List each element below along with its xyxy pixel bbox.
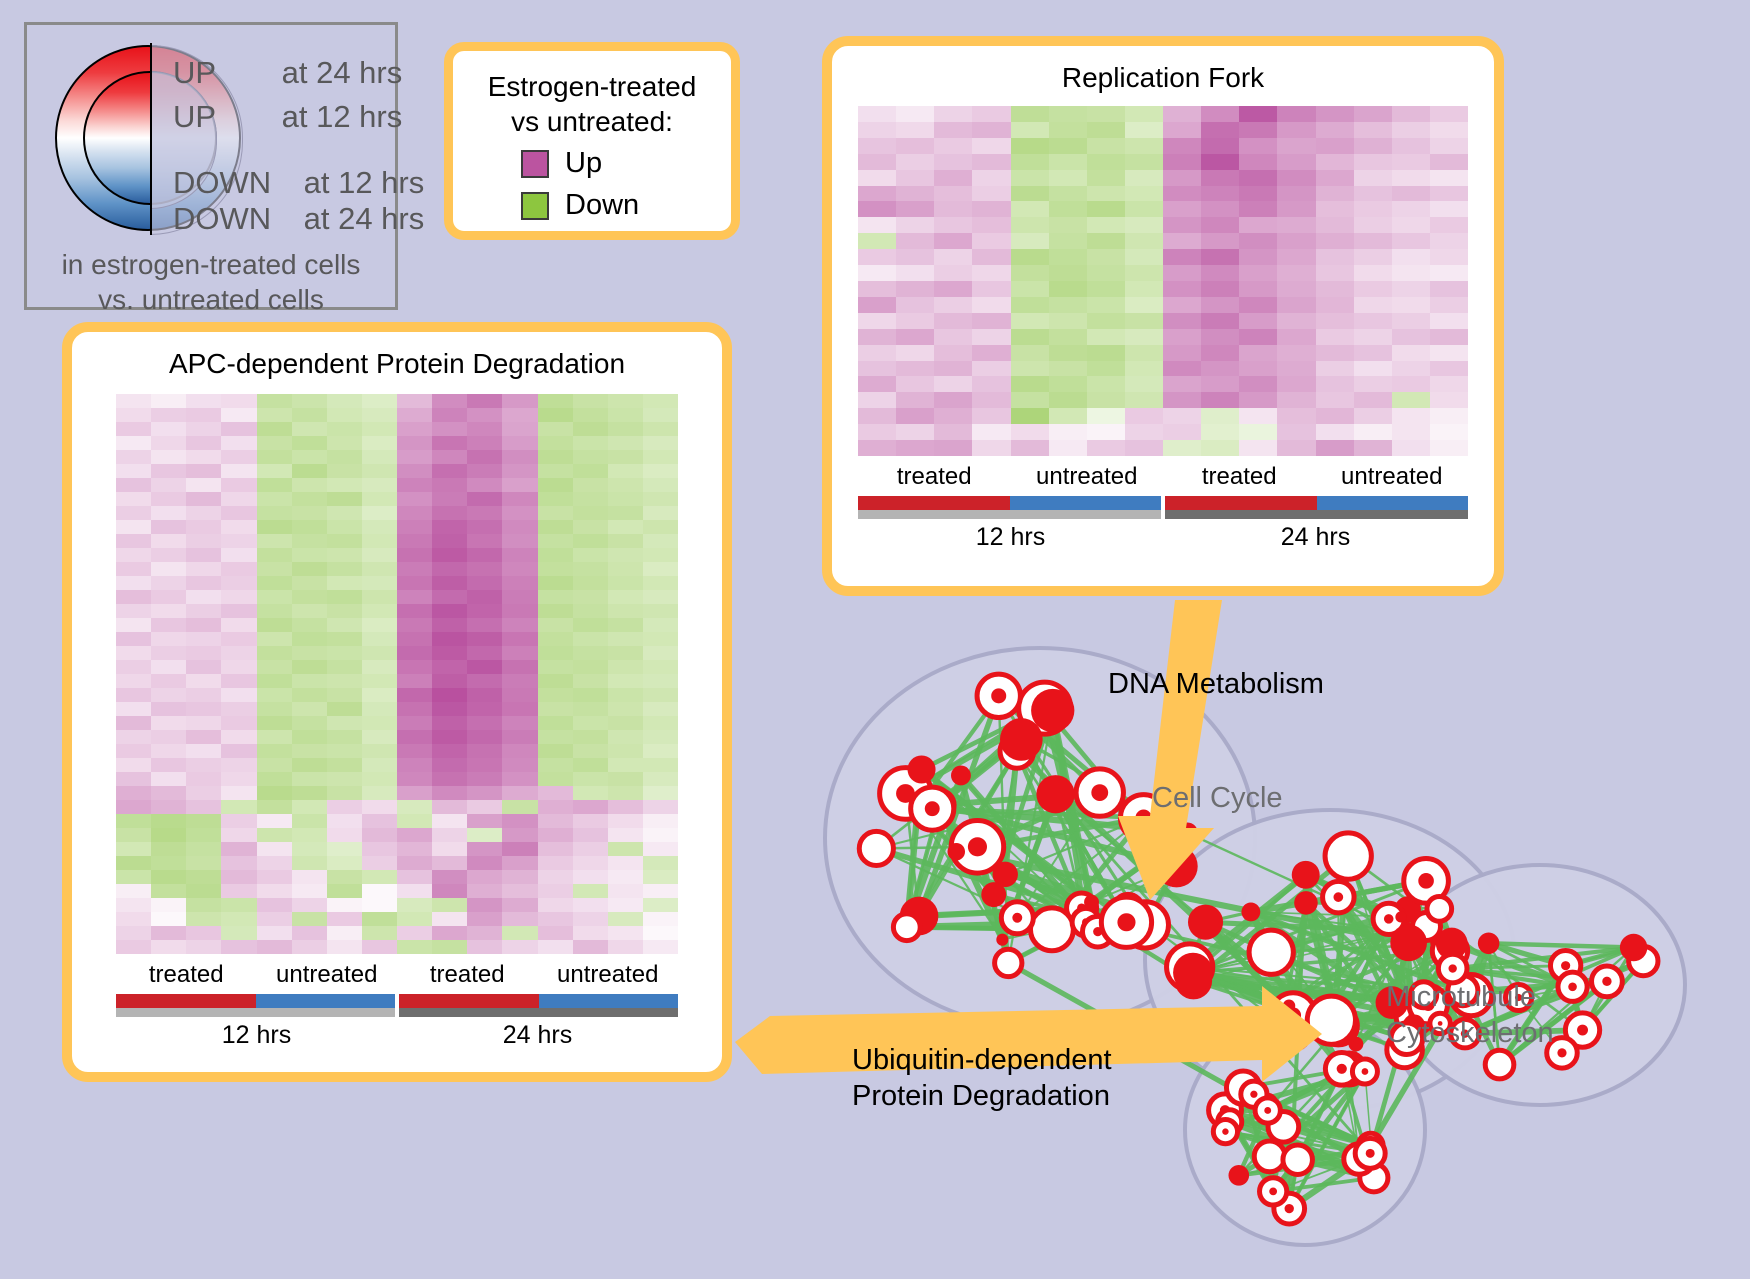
heatmap-cell: [608, 772, 643, 786]
network-edge: [932, 708, 1044, 809]
heatmap-cell: [1239, 106, 1277, 122]
heatmap-cell: [1392, 361, 1430, 377]
heatmap-cell: [1239, 281, 1277, 297]
heatmap-cell: [186, 912, 221, 926]
heatmap-cell: [1011, 408, 1049, 424]
heatmap-cell: [116, 534, 151, 548]
network-node-core: [903, 923, 911, 931]
heatmap-cell: [538, 646, 573, 660]
network-edge: [1206, 922, 1272, 952]
network-edge: [1225, 1110, 1230, 1122]
network-node-core: [1366, 1149, 1375, 1158]
heatmap-cell: [858, 361, 896, 377]
network-edge: [1389, 919, 1450, 951]
heatmap-cell: [643, 464, 678, 478]
heatmap-cell: [1011, 122, 1049, 138]
heatmap-cell: [186, 646, 221, 660]
network-node-core: [1448, 964, 1456, 972]
network-node: [1260, 1178, 1287, 1205]
heatmap-cell: [502, 842, 537, 856]
heatmap-cell: [538, 604, 573, 618]
heatmap-cell: [896, 281, 934, 297]
network-node-core: [991, 688, 1006, 703]
network-edge: [876, 848, 1052, 929]
heatmap-cell: [972, 265, 1010, 281]
heatmap-cell: [397, 800, 432, 814]
network-edge: [918, 807, 994, 895]
heatmap-cell: [858, 233, 896, 249]
heatmap-cell: [432, 660, 467, 674]
heatmap-cell: [1430, 313, 1468, 329]
network-node: [1036, 775, 1074, 813]
heatmap-cell: [1163, 154, 1201, 170]
heatmap-cell: [1430, 329, 1468, 345]
network-edge: [1225, 1071, 1365, 1110]
heatmap-cell: [1277, 154, 1315, 170]
heatmap-cell: [1125, 424, 1163, 440]
heatmap-cell: [1201, 201, 1239, 217]
network-edge: [1243, 1088, 1254, 1095]
heatmap-cell: [643, 758, 678, 772]
heatmap-cell: [858, 424, 896, 440]
heatmap-cell: [502, 814, 537, 828]
heatmap-cell: [643, 702, 678, 716]
heatmap-cell: [573, 646, 608, 660]
heatmap-cell: [221, 828, 256, 842]
heatmap-cell: [1125, 186, 1163, 202]
heatmap-cell: [362, 702, 397, 716]
heatmap-cell: [397, 548, 432, 562]
heatmap-cell: [362, 786, 397, 800]
network-node-core: [1370, 1174, 1378, 1182]
heatmap-cell: [327, 688, 362, 702]
heatmap-cell: [257, 800, 292, 814]
network-node: [912, 801, 924, 813]
heatmap-cell: [858, 392, 896, 408]
heatmap-cell: [1125, 281, 1163, 297]
network-node: [1629, 946, 1658, 975]
heatmap-cell: [186, 478, 221, 492]
network-node-core: [1577, 1025, 1588, 1036]
network-edge: [1489, 943, 1634, 947]
heatmap-cell: [1201, 281, 1239, 297]
heatmap-cell: [151, 604, 186, 618]
group-label: treated: [1163, 462, 1316, 492]
network-label-ubiquitin-degradation: Ubiquitin-dependent Protein Degradation: [852, 1042, 1112, 1114]
heatmap-cell: [1087, 233, 1125, 249]
network-edge: [1439, 909, 1451, 944]
network-edge: [1273, 1178, 1374, 1192]
heatmap-cell: [186, 492, 221, 506]
heatmap-cell: [292, 618, 327, 632]
network-edge: [1284, 903, 1306, 1006]
heatmap-cell: [573, 940, 608, 954]
heatmap-cell: [432, 450, 467, 464]
treatment-bar-segment: [858, 496, 1010, 510]
heatmap-cell: [1354, 297, 1392, 313]
heatmap-cell: [1316, 106, 1354, 122]
network-edge: [1583, 948, 1634, 1031]
network-node: [1395, 896, 1421, 922]
updown-title-line2: vs untreated:: [453, 104, 731, 139]
heatmap-cell: [397, 464, 432, 478]
heatmap-cell: [972, 122, 1010, 138]
network-edge: [1206, 922, 1402, 931]
heatmap-cell: [432, 632, 467, 646]
network-edge: [1052, 909, 1128, 929]
heatmap-cell: [257, 786, 292, 800]
heatmap-cell: [1277, 281, 1315, 297]
network-edge: [1225, 1110, 1371, 1145]
network-edge: [922, 770, 1098, 932]
heatmap-cell: [573, 716, 608, 730]
heatmap-cell: [1201, 392, 1239, 408]
heatmap-cell: [972, 201, 1010, 217]
treatment-bar-apc: [116, 994, 678, 1008]
heatmap-cell: [573, 772, 608, 786]
heatmap-cell: [362, 674, 397, 688]
network-edge: [1193, 875, 1306, 973]
heatmap-cell: [972, 249, 1010, 265]
heatmap-cell: [502, 520, 537, 534]
heatmap-cell: [643, 800, 678, 814]
heatmap-cell: [1011, 170, 1049, 186]
heatmap-cell: [573, 408, 608, 422]
heatmap-cell: [362, 828, 397, 842]
heatmap-cell: [432, 870, 467, 884]
heatmap-cell: [467, 492, 502, 506]
heatmap-cell: [257, 576, 292, 590]
heatmap-cell: [1049, 154, 1087, 170]
heatmap-cell: [1201, 345, 1239, 361]
heatmap-cell: [116, 394, 151, 408]
heatmap-cell: [643, 506, 678, 520]
network-edge: [932, 809, 1143, 818]
treatment-bar-segment: [539, 994, 679, 1008]
treatment-bar-segment: [116, 994, 256, 1008]
heatmap-cell: [327, 940, 362, 954]
heatmap-cell: [972, 376, 1010, 392]
heatmap-cell: [362, 604, 397, 618]
heatmap-cell: [221, 534, 256, 548]
heatmap-cell: [1392, 408, 1430, 424]
heatmap-cell: [116, 422, 151, 436]
heatmap-cell: [362, 394, 397, 408]
heatmap-cell: [573, 884, 608, 898]
network-edge: [1338, 881, 1426, 897]
heatmap-cell: [538, 828, 573, 842]
heatmap-cell: [1239, 217, 1277, 233]
network-edge: [1342, 1069, 1374, 1178]
heatmap-cell: [292, 450, 327, 464]
network-edge: [1206, 922, 1285, 1006]
heatmap-cell: [257, 884, 292, 898]
network-edge: [1562, 961, 1643, 1053]
heatmap-cell: [221, 926, 256, 940]
network-node: [947, 843, 965, 861]
heatmap-cell: [432, 842, 467, 856]
heatmap-cell: [432, 744, 467, 758]
heatmap-cell: [608, 618, 643, 632]
network-edge: [999, 696, 1146, 925]
heatmap-cell: [116, 870, 151, 884]
heatmap-cell: [362, 562, 397, 576]
network-node: [1592, 966, 1623, 997]
heatmap-cell: [608, 562, 643, 576]
heatmap-cell: [432, 562, 467, 576]
heatmap-cell: [643, 534, 678, 548]
network-edge: [1193, 973, 1414, 1026]
heatmap-cell: [432, 814, 467, 828]
network-edge: [1268, 1069, 1349, 1111]
heatmap-cell: [397, 422, 432, 436]
key-time-down-24: at 24 hrs: [304, 203, 425, 234]
heatmap-cell: [467, 548, 502, 562]
network-edge: [1254, 1094, 1371, 1145]
network-edge: [1289, 1006, 1342, 1069]
heatmap-cell: [397, 576, 432, 590]
network-node-core: [1012, 913, 1022, 923]
treatment-bar-segment: [256, 994, 396, 1008]
network-edge: [1225, 1132, 1359, 1159]
heatmap-cell: [186, 702, 221, 716]
heatmap-cell: [608, 590, 643, 604]
heatmap-cell: [1201, 106, 1239, 122]
network-edge: [1193, 973, 1407, 1039]
network-node-core: [1082, 918, 1090, 926]
heatmap-cell: [538, 520, 573, 534]
heatmap-cell: [397, 674, 432, 688]
network-edge: [922, 708, 1045, 769]
heatmap-cell: [327, 548, 362, 562]
key-label-up-24: UP: [173, 57, 273, 88]
heatmap-cell: [934, 122, 972, 138]
heatmap-cell: [186, 562, 221, 576]
heatmap-cell: [1011, 249, 1049, 265]
network-node-core: [1340, 848, 1356, 864]
network-edge: [1193, 973, 1407, 1039]
heatmap-cell: [257, 940, 292, 954]
heatmap-cell: [538, 408, 573, 422]
heatmap-cell: [1049, 201, 1087, 217]
heatmap-cell: [608, 520, 643, 534]
heatmap-cell: [257, 464, 292, 478]
heatmap-cell: [151, 492, 186, 506]
heatmap-cell: [221, 814, 256, 828]
network-node: [1213, 1120, 1237, 1144]
heatmap-cell: [151, 478, 186, 492]
network-edge: [907, 927, 1052, 929]
network-edge: [1021, 739, 1126, 922]
heatmap-cell: [538, 450, 573, 464]
heatmap-cell: [1163, 440, 1201, 456]
heatmap-cell: [327, 828, 362, 842]
network-node: [1076, 769, 1123, 816]
heatmap-cell: [1392, 201, 1430, 217]
heatmap-cell: [151, 800, 186, 814]
heatmap-cell: [116, 716, 151, 730]
heatmap-cell: [608, 646, 643, 660]
network-edge: [940, 805, 957, 852]
cluster-halo-0: [825, 648, 1255, 1028]
heatmap-cell: [896, 154, 934, 170]
network-edge: [1289, 875, 1306, 1209]
heatmap-cell: [502, 912, 537, 926]
heatmap-cell: [151, 422, 186, 436]
heatmap-cell: [1201, 122, 1239, 138]
heatmap-cell: [1087, 201, 1125, 217]
heatmap-cell: [502, 898, 537, 912]
heatmap-cell: [972, 138, 1010, 154]
heatmap-cell: [972, 170, 1010, 186]
heatmap-cell: [116, 898, 151, 912]
heatmap-cell: [1011, 440, 1049, 456]
heatmap-cell: [1354, 106, 1392, 122]
heatmap-cell: [327, 772, 362, 786]
network-edge: [1268, 1071, 1365, 1110]
heatmap-cell: [1163, 297, 1201, 313]
heatmap-cell: [1239, 408, 1277, 424]
key-time-down-12: at 12 hrs: [304, 167, 425, 198]
heatmap-cell: [221, 702, 256, 716]
heatmap-cell: [257, 702, 292, 716]
heatmap-cell: [186, 772, 221, 786]
network-edge: [1251, 897, 1338, 912]
network-edge: [1273, 1071, 1365, 1191]
heatmap-cell: [1011, 154, 1049, 170]
network-node-core: [1367, 1142, 1374, 1149]
heatmap-cell: [397, 590, 432, 604]
heatmap-cell: [292, 926, 327, 940]
heatmap-cell: [502, 660, 537, 674]
heatmap-cell: [292, 506, 327, 520]
network-edge: [876, 848, 1126, 922]
network-edge: [1566, 966, 1583, 1030]
heatmap-cell: [327, 716, 362, 730]
heatmap-cell: [362, 814, 397, 828]
heatmap-cell: [608, 716, 643, 730]
heatmap-cell: [221, 884, 256, 898]
heatmap-cell: [292, 912, 327, 926]
heatmap-cell: [1316, 138, 1354, 154]
network-edge: [1005, 751, 1017, 874]
heatmap-cell: [221, 744, 256, 758]
network-edge: [1206, 922, 1356, 1044]
network-edge: [1126, 909, 1128, 922]
heatmap-cell: [292, 772, 327, 786]
network-edge: [1566, 948, 1634, 966]
heatmap-cell: [221, 856, 256, 870]
heatmap-cell: [186, 534, 221, 548]
heatmap-cell: [1011, 329, 1049, 345]
network-node-core: [1333, 1018, 1342, 1027]
network-node: [1167, 944, 1213, 990]
heatmap-cell: [934, 376, 972, 392]
network-edge: [1190, 967, 1332, 1020]
network-edge: [1306, 903, 1439, 909]
network-edge: [918, 807, 994, 895]
heatmap-cell: [502, 548, 537, 562]
heatmap-cell: [538, 618, 573, 632]
heatmap-cell: [151, 856, 186, 870]
heatmap-cell: [292, 716, 327, 730]
heatmap-cell: [1125, 313, 1163, 329]
heatmap-cell: [896, 361, 934, 377]
heatmap-cell: [432, 884, 467, 898]
heatmap-cell: [292, 744, 327, 758]
heatmap-cell: [538, 898, 573, 912]
heatmap-cell: [972, 154, 1010, 170]
timepoint-label: 24 hrs: [1163, 523, 1468, 552]
heatmap-cell: [221, 506, 256, 520]
heatmap-cell: [1049, 440, 1087, 456]
network-edge: [1389, 919, 1427, 927]
panel-apc-degradation: APC-dependent Protein Degradation treate…: [62, 322, 732, 1082]
heatmap-cell: [186, 828, 221, 842]
network-node: [1348, 1037, 1363, 1052]
network-node: [900, 897, 939, 936]
heatmap-cell: [1049, 361, 1087, 377]
heatmap-cell: [1201, 138, 1239, 154]
heatmap-cell: [432, 506, 467, 520]
heatmap-cell: [643, 870, 678, 884]
heatmap-cell: [538, 912, 573, 926]
heatmap-cell: [1087, 281, 1125, 297]
heatmap-cell: [1354, 138, 1392, 154]
heatmap-cell: [1430, 440, 1468, 456]
heatmap-cell: [432, 758, 467, 772]
heatmap-cell: [972, 233, 1010, 249]
network-edge: [919, 751, 1017, 916]
network-node: [1395, 911, 1406, 922]
heatmap-cell: [467, 674, 502, 688]
heatmap-cell: [896, 392, 934, 408]
heatmap-cell: [151, 758, 186, 772]
heatmap-cell: [1392, 154, 1430, 170]
network-node: [1274, 996, 1294, 1016]
heatmap-cell: [397, 772, 432, 786]
heatmap-cell: [186, 674, 221, 688]
heatmap-cell: [186, 884, 221, 898]
heatmap-cell: [467, 450, 502, 464]
network-edge: [956, 852, 1098, 932]
heatmap-cell: [432, 646, 467, 660]
heatmap-cell: [1277, 217, 1315, 233]
heatmap-cell: [1049, 217, 1087, 233]
network-node: [1292, 861, 1320, 889]
heatmap-cell: [538, 464, 573, 478]
heatmap-cell: [608, 632, 643, 646]
network-node: [1283, 1145, 1313, 1175]
heatmap-cell: [1430, 408, 1468, 424]
heatmap-cell: [1125, 329, 1163, 345]
heatmap-cell: [397, 898, 432, 912]
network-node-core: [1354, 1154, 1363, 1163]
heatmap-cell: [573, 422, 608, 436]
heatmap-cell: [1125, 170, 1163, 186]
network-edge: [1098, 925, 1146, 932]
heatmap-cell: [934, 345, 972, 361]
heatmap-cell: [608, 744, 643, 758]
heatmap-cell: [1087, 297, 1125, 313]
network-edge: [1092, 833, 1188, 902]
network-edge: [1298, 1069, 1342, 1160]
heatmap-cell: [858, 440, 896, 456]
heatmap-cell: [257, 842, 292, 856]
key-row-down-24: DOWN at 24 hrs: [173, 203, 424, 234]
heatmap-cell: [221, 464, 256, 478]
network-node-core: [925, 801, 940, 816]
